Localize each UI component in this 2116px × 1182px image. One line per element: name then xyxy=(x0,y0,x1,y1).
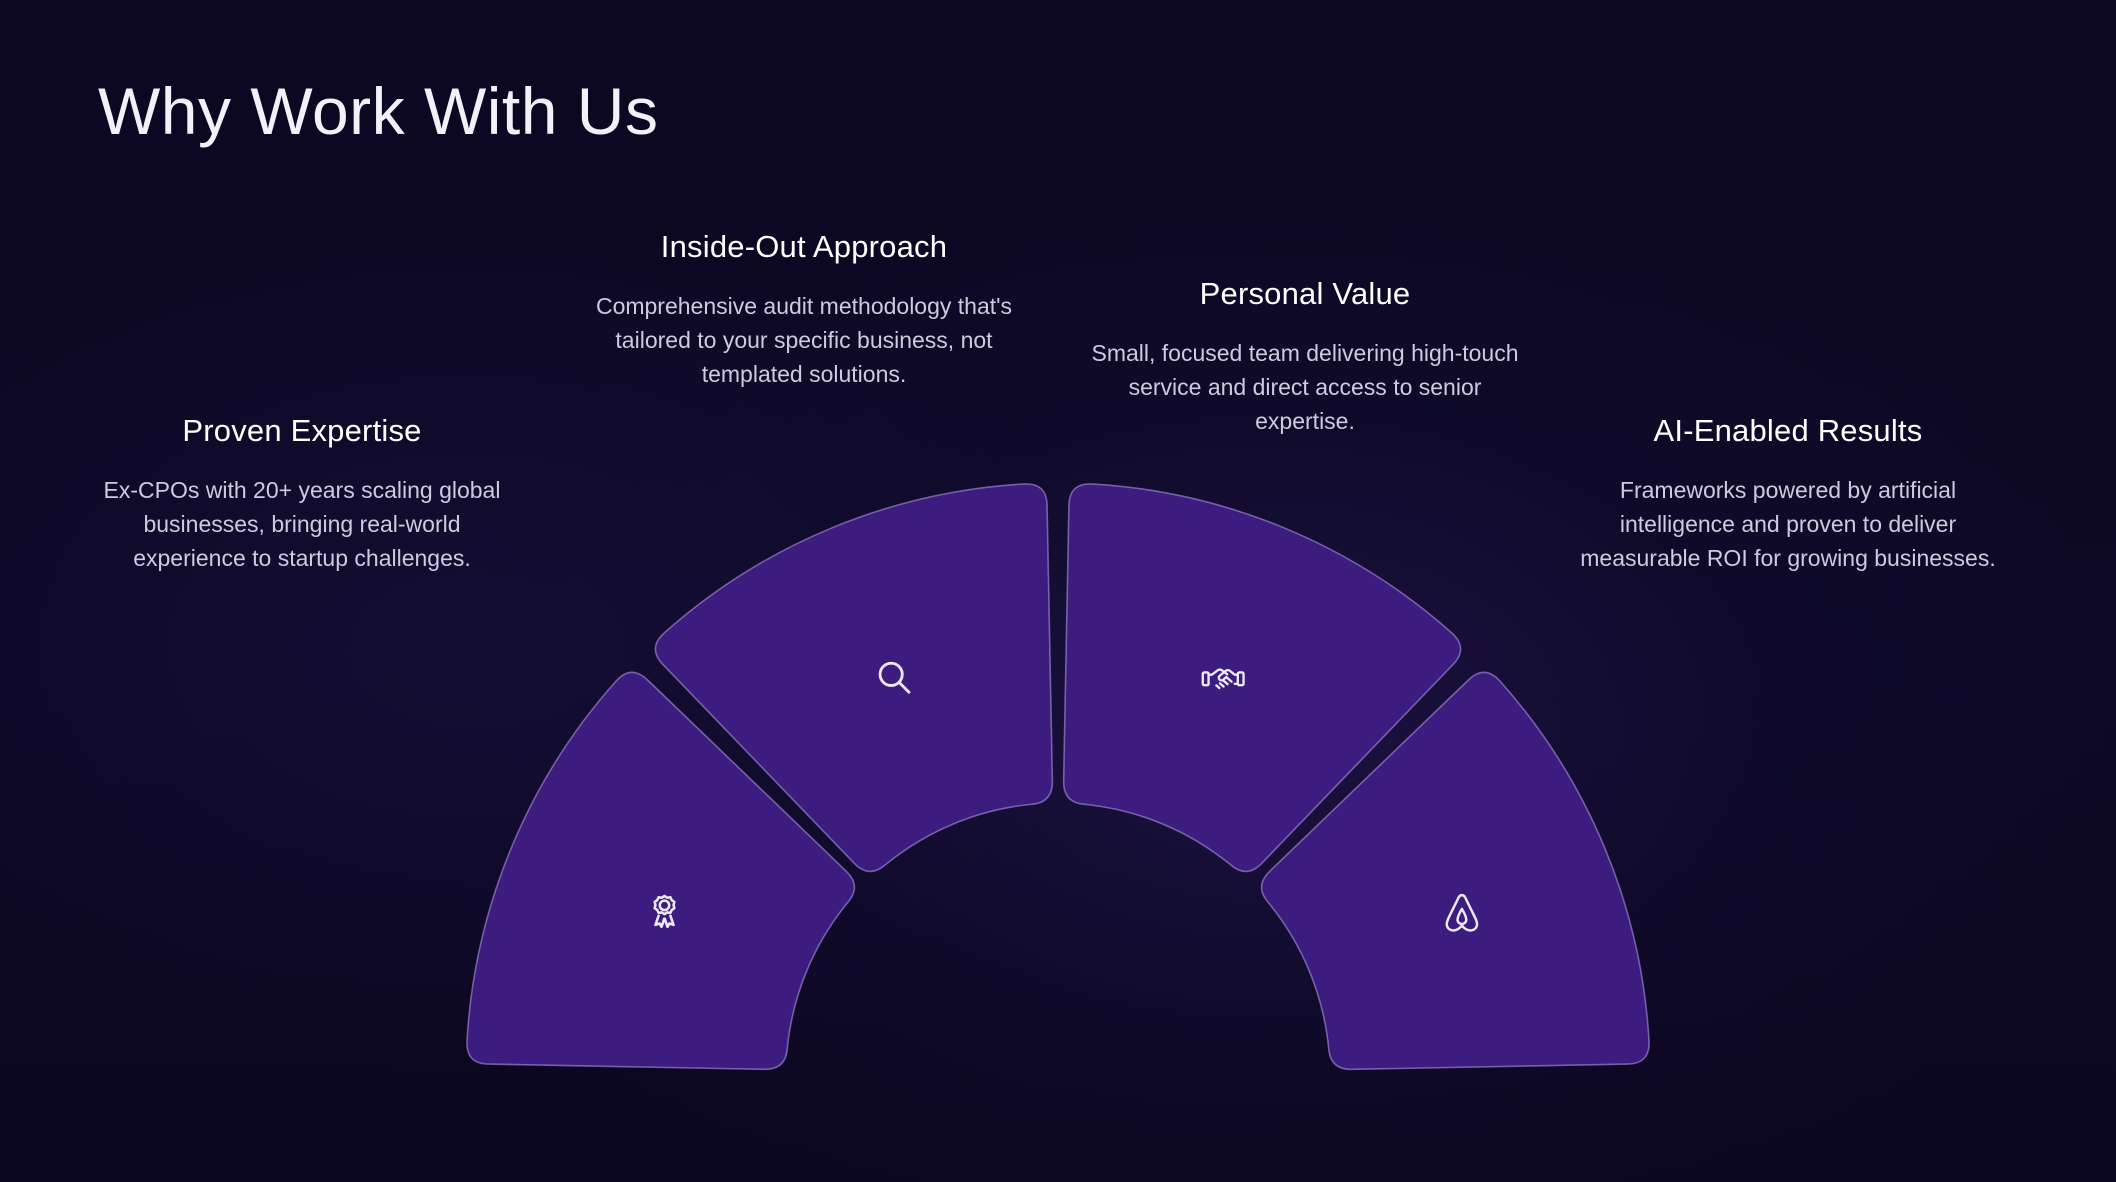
arc-chart xyxy=(0,0,2116,1182)
handshake-icon xyxy=(1203,670,1244,688)
why-work-with-us-section: Why Work With Us Proven Expertise Ex-CPO… xyxy=(0,0,2116,1182)
